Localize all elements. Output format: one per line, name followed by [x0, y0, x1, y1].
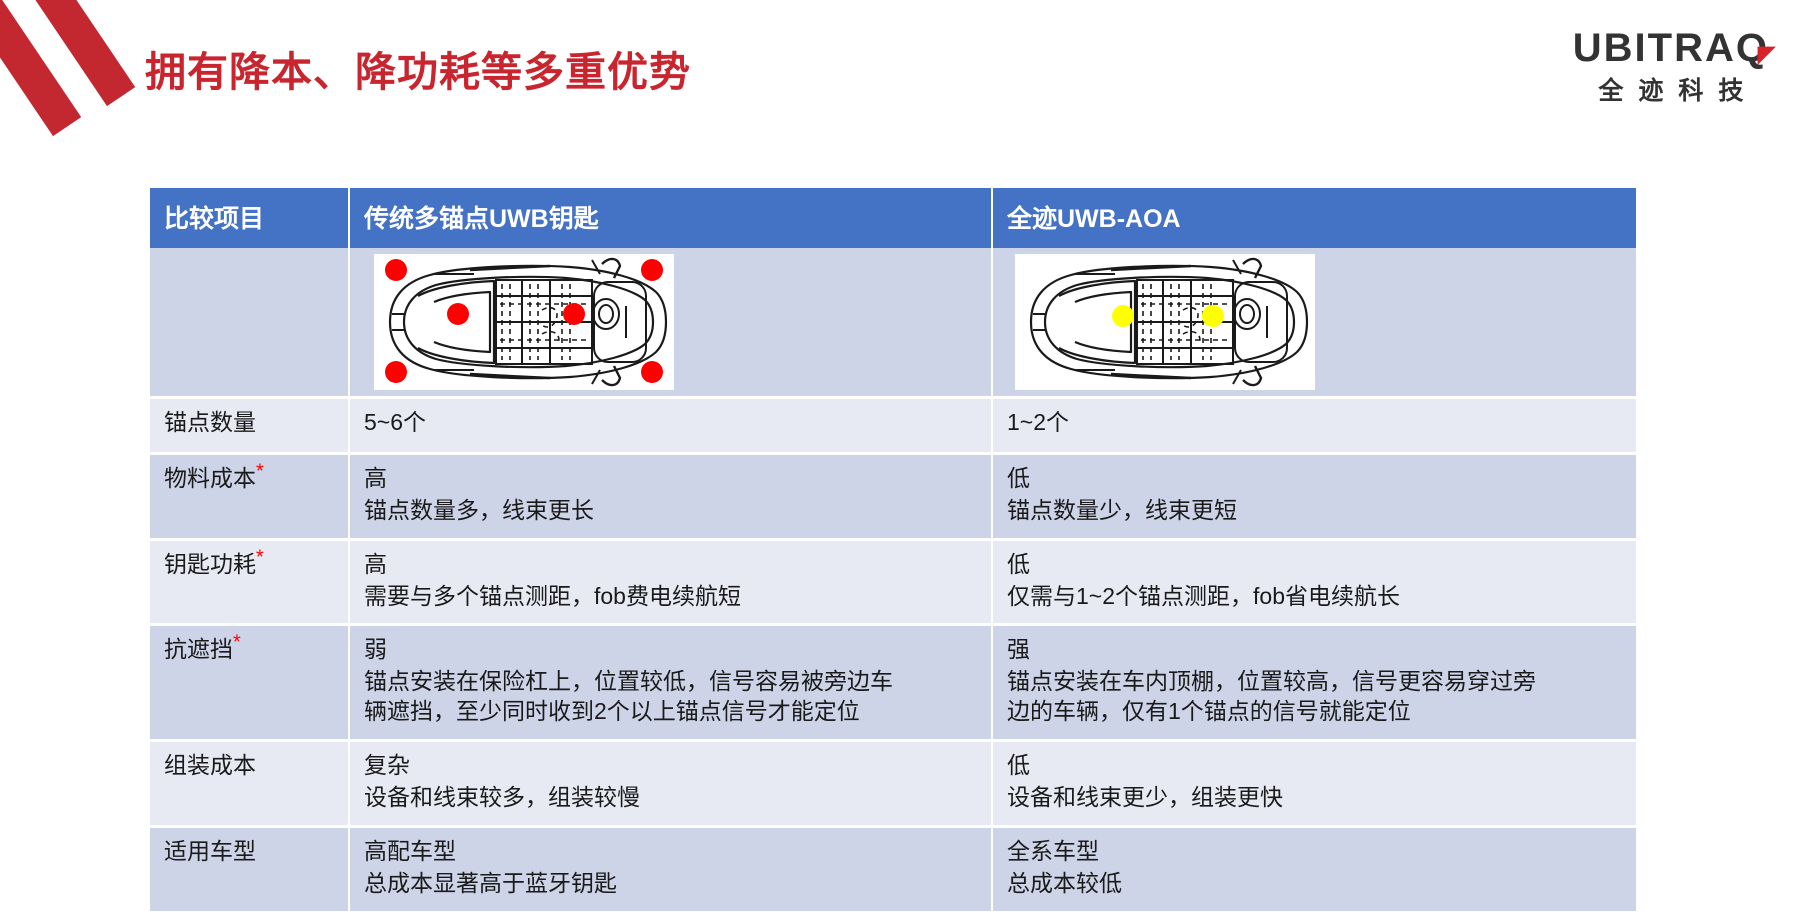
row-2-asterisk-icon: * [256, 546, 264, 568]
cell-illustration-right [993, 248, 1636, 399]
row-1-left-line-2: 锚点数量多，线束更长 [364, 496, 977, 526]
row-0-right-line-1: 1~2个 [1007, 408, 1622, 438]
table-row: 适用车型 高配车型总成本显著高于蓝牙钥匙 全系车型总成本较低 [150, 828, 1636, 914]
logo-wordmark-text: UBITRAQ [1573, 26, 1769, 70]
anchor-dot-right-2 [1202, 305, 1224, 327]
row-3-right-line-1: 强 [1007, 635, 1622, 665]
row-4-right-line-2: 设备和线束更少，组装更快 [1007, 783, 1622, 813]
row-3-left-line-2: 锚点安装在保险杠上，位置较低，信号容易被旁边车 [364, 667, 977, 697]
anchor-dot-right-1 [1112, 305, 1134, 327]
brand-logo: UBITRAQ ◤ 全迹科技 [1573, 27, 1769, 107]
cell-criteria-label-3: 抗遮挡* [150, 626, 350, 742]
car-top-view-icon [374, 254, 674, 390]
anchor-dot-left-5 [385, 361, 407, 383]
row-3-left-line-1: 弱 [364, 635, 977, 665]
row-4-right-line-1: 低 [1007, 751, 1622, 781]
table-row: 钥匙功耗* 高需要与多个锚点测距，fob费电续航短 低仅需与1~2个锚点测距，f… [150, 541, 1636, 627]
comparison-table: 比较项目 传统多锚点UWB钥匙 全迹UWB-AOA [150, 188, 1636, 914]
row-2-right-line-1: 低 [1007, 550, 1622, 580]
cell-traditional-2: 高需要与多个锚点测距，fob费电续航短 [350, 541, 993, 627]
row-5-label: 适用车型 [164, 838, 256, 864]
row-3-left-line-3: 辆遮挡，至少同时收到2个以上锚点信号才能定位 [364, 697, 977, 727]
decorative-diagonal-stripes [0, 0, 132, 119]
row-5-right-line-1: 全系车型 [1007, 837, 1622, 867]
cell-criteria-label-2: 钥匙功耗* [150, 541, 350, 627]
row-5-left-line-2: 总成本显著高于蓝牙钥匙 [364, 869, 977, 899]
cell-aoa-5: 全系车型总成本较低 [993, 828, 1636, 914]
row-1-label: 物料成本 [164, 465, 256, 491]
table-row-illustrations [150, 248, 1636, 399]
anchor-dot-left-3 [447, 303, 469, 325]
anchor-dot-left-1 [385, 259, 407, 281]
column-header-criteria: 比较项目 [150, 188, 350, 248]
column-header-ubitraq-aoa: 全迹UWB-AOA [993, 188, 1636, 248]
anchor-dot-left-6 [641, 361, 663, 383]
cell-aoa-2: 低仅需与1~2个锚点测距，fob省电续航长 [993, 541, 1636, 627]
logo-wordmark: UBITRAQ ◤ [1573, 27, 1769, 69]
row-4-left-line-1: 复杂 [364, 751, 977, 781]
cell-traditional-1: 高锚点数量多，线束更长 [350, 455, 993, 541]
table-body: 锚点数量 5~6个 1~2个 物料成本* 高锚点数量多，线束更长 低锚点数量少，… [150, 248, 1636, 914]
car-top-view-icon [1015, 254, 1315, 390]
row-5-right-line-2: 总成本较低 [1007, 869, 1622, 899]
row-4-left-line-2: 设备和线束较多，组装较慢 [364, 783, 977, 813]
table-header-row: 比较项目 传统多锚点UWB钥匙 全迹UWB-AOA [150, 188, 1636, 248]
cell-illustration-label [150, 248, 350, 399]
cell-traditional-3: 弱锚点安装在保险杠上，位置较低，信号容易被旁边车辆遮挡，至少同时收到2个以上锚点… [350, 626, 993, 742]
logo-chinese-name: 全迹科技 [1573, 71, 1784, 107]
row-0-label: 锚点数量 [164, 409, 256, 435]
row-5-left-line-1: 高配车型 [364, 837, 977, 867]
cell-aoa-3: 强锚点安装在车内顶棚，位置较高，信号更容易穿过旁边的车辆，仅有1个锚点的信号就能… [993, 626, 1636, 742]
row-2-left-line-2: 需要与多个锚点测距，fob费电续航短 [364, 582, 977, 612]
logo-accent-icon: ◤ [1758, 43, 1778, 67]
table-row: 抗遮挡* 弱锚点安装在保险杠上，位置较低，信号容易被旁边车辆遮挡，至少同时收到2… [150, 626, 1636, 742]
cell-criteria-label-5: 适用车型 [150, 828, 350, 914]
cell-aoa-1: 低锚点数量少，线束更短 [993, 455, 1636, 541]
row-1-right-line-1: 低 [1007, 464, 1622, 494]
table-row: 锚点数量 5~6个 1~2个 [150, 399, 1636, 455]
row-2-label: 钥匙功耗 [164, 551, 256, 577]
column-header-traditional-uwb: 传统多锚点UWB钥匙 [350, 188, 993, 248]
cell-aoa-4: 低设备和线束更少，组装更快 [993, 742, 1636, 828]
anchor-dot-left-2 [641, 259, 663, 281]
row-1-left-line-1: 高 [364, 464, 977, 494]
car-illustration-aoa [1015, 254, 1315, 390]
cell-criteria-label-4: 组装成本 [150, 742, 350, 828]
table-row: 组装成本 复杂设备和线束较多，组装较慢 低设备和线束更少，组装更快 [150, 742, 1636, 828]
car-illustration-traditional [374, 254, 674, 390]
cell-aoa-0: 1~2个 [993, 399, 1636, 455]
cell-traditional-4: 复杂设备和线束较多，组装较慢 [350, 742, 993, 828]
row-2-left-line-1: 高 [364, 550, 977, 580]
anchor-dot-left-4 [563, 303, 585, 325]
page-title: 拥有降本、降功耗等多重优势 [145, 38, 691, 98]
cell-traditional-0: 5~6个 [350, 399, 993, 455]
table-row: 物料成本* 高锚点数量多，线束更长 低锚点数量少，线束更短 [150, 455, 1636, 541]
row-0-left-line-1: 5~6个 [364, 408, 977, 438]
row-3-asterisk-icon: * [233, 632, 241, 654]
row-3-right-line-3: 边的车辆，仅有1个锚点的信号就能定位 [1007, 697, 1622, 727]
cell-criteria-label-1: 物料成本* [150, 455, 350, 541]
cell-traditional-5: 高配车型总成本显著高于蓝牙钥匙 [350, 828, 993, 914]
row-1-asterisk-icon: * [256, 460, 264, 482]
row-1-right-line-2: 锚点数量少，线束更短 [1007, 496, 1622, 526]
row-3-right-line-2: 锚点安装在车内顶棚，位置较高，信号更容易穿过旁 [1007, 667, 1622, 697]
row-2-right-line-2: 仅需与1~2个锚点测距，fob省电续航长 [1007, 582, 1622, 612]
row-3-label: 抗遮挡 [164, 636, 233, 662]
cell-criteria-label-0: 锚点数量 [150, 399, 350, 455]
row-4-label: 组装成本 [164, 752, 256, 778]
cell-illustration-left [350, 248, 993, 399]
